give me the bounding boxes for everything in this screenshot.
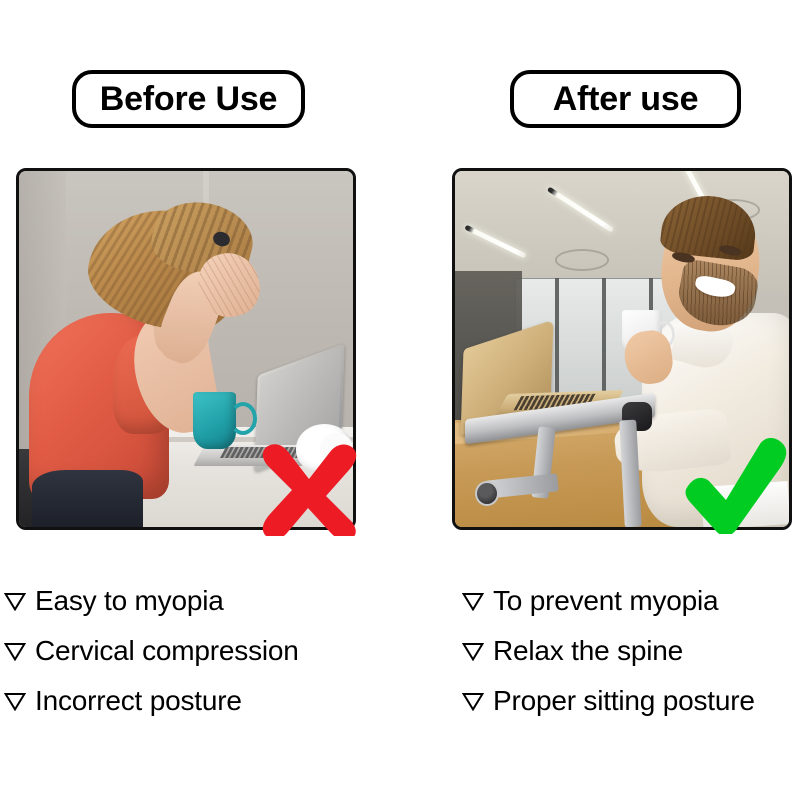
list-item: Proper sitting posture xyxy=(462,676,798,726)
after-photo-image xyxy=(455,171,789,527)
triangle-down-outline-icon xyxy=(4,642,26,661)
triangle-down-outline-icon xyxy=(4,592,26,611)
before-headphones xyxy=(296,424,353,474)
list-item: Incorrect posture xyxy=(4,676,424,726)
list-item-label: Relax the spine xyxy=(493,637,683,665)
list-item: Cervical compression xyxy=(4,626,424,676)
list-item-label: Proper sitting posture xyxy=(493,687,755,715)
after-photo-frame xyxy=(452,168,792,530)
list-item-label: Easy to myopia xyxy=(35,587,224,615)
after-label-box: After use xyxy=(510,70,741,128)
list-item-label: Incorrect posture xyxy=(35,687,242,715)
before-photo-frame xyxy=(16,168,356,530)
before-bullet-list: Easy to myopia Cervical compression Inco… xyxy=(4,576,424,726)
after-desk-papers xyxy=(701,481,789,527)
list-item-label: Cervical compression xyxy=(35,637,299,665)
comparison-page: Before Use After use xyxy=(0,0,800,800)
after-bullet-list: To prevent myopia Relax the spine Proper… xyxy=(462,576,798,726)
before-woman-jeans xyxy=(32,470,142,527)
after-stand-wheel xyxy=(475,481,499,506)
before-label-box: Before Use xyxy=(72,70,305,128)
after-label-text: After use xyxy=(553,82,699,116)
label-row: Before Use After use xyxy=(0,70,800,132)
list-item-label: To prevent myopia xyxy=(493,587,718,615)
list-item: Easy to myopia xyxy=(4,576,424,626)
triangle-down-outline-icon xyxy=(462,592,484,611)
triangle-down-outline-icon xyxy=(4,692,26,711)
triangle-down-outline-icon xyxy=(462,692,484,711)
before-photo-image xyxy=(19,171,353,527)
list-item: To prevent myopia xyxy=(462,576,798,626)
before-label-text: Before Use xyxy=(100,82,278,116)
list-item: Relax the spine xyxy=(462,626,798,676)
triangle-down-outline-icon xyxy=(462,642,484,661)
